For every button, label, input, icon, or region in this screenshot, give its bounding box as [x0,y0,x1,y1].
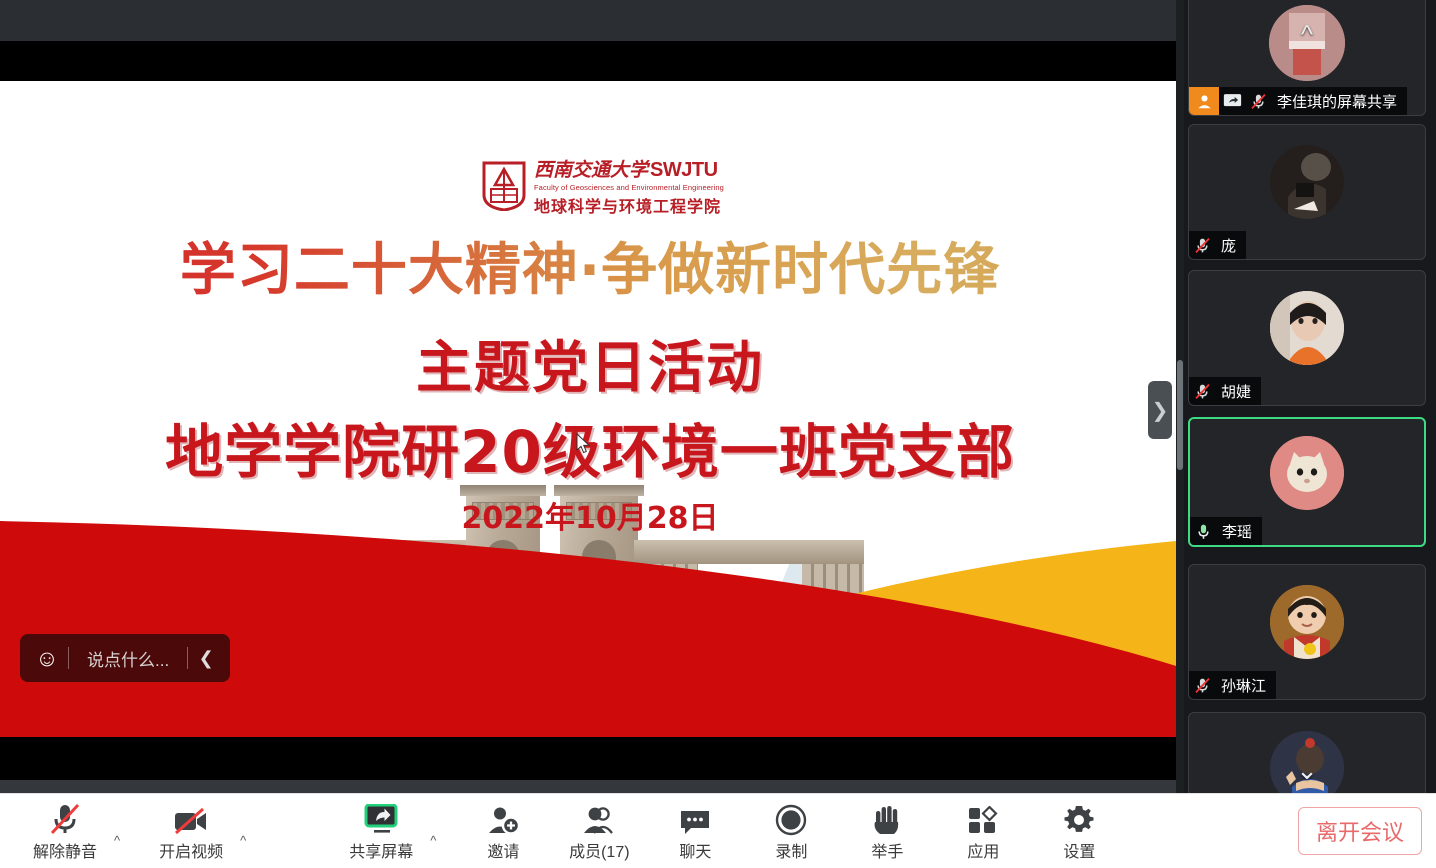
scrollbar-thumb[interactable] [1177,360,1183,470]
leave-meeting-label: 离开会议 [1316,815,1404,847]
screen-share-icon [1219,87,1245,115]
logo-faculty-cn: 地球科学与环境工程学院 [534,193,724,217]
smiley-icon[interactable]: ☺ [26,647,68,670]
letterbox-top [0,41,1180,81]
avatar [1270,145,1344,219]
microphone-muted-icon [1245,87,1271,115]
microphone-muted-icon [1189,231,1215,259]
toolbar-label: 成员(17) [569,838,629,862]
participant-tile[interactable]: 孙琳江 [1188,564,1426,700]
host-badge-icon [1189,87,1219,115]
participant-panel[interactable]: ^ [1184,0,1436,793]
toolbar-invite-button[interactable]: 邀请 [466,796,540,866]
toolbar-label: 解除静音 [33,838,97,862]
microphone-muted-icon [48,800,82,836]
microphone-muted-icon [1189,671,1215,699]
toolbar-label: 录制 [775,838,807,862]
toolbar-members-button[interactable]: 成员(17) [554,796,644,866]
chat-quick-entry[interactable]: ☺ 说点什么... ❮ [20,634,230,682]
avatar [1270,585,1344,659]
participant-namebar: 李佳琪的屏幕共享 [1189,87,1407,115]
chat-bubble-icon [679,800,711,836]
logo-university-cn: 西南交通大学 [534,155,648,182]
toolbar-label: 应用 [967,838,999,862]
participant-name: 李瑶 [1216,521,1252,542]
raised-hand-icon [872,800,902,836]
toolbar-share-screen-button[interactable]: 共享屏幕 [338,796,424,866]
toolbar-settings-button[interactable]: 设置 [1042,796,1116,866]
participant-namebar: 孙琳江 [1189,671,1276,699]
toolbar-label: 邀请 [487,838,519,862]
screen-top-strip [0,0,1180,41]
screen-bottom-strip [0,780,1180,793]
people-icon [582,800,616,836]
meeting-toolbar[interactable]: 解除静音 ^ 开启视频 ^ [0,793,1436,868]
presentation-slide: 交通大学 [0,81,1180,737]
leave-meeting-button[interactable]: 离开会议 [1298,807,1422,855]
gear-icon [1063,800,1095,836]
participant-name: 孙琳江 [1215,675,1266,696]
slide-date: 2022年10月28日 [0,493,1180,537]
participant-name: 庞 [1215,235,1236,256]
university-logo: 西南交通大学 SWJTU Faculty of Geosciences and … [482,155,724,217]
participant-panel-scrollbar[interactable] [1176,0,1184,793]
share-screen-icon [363,800,399,836]
participant-namebar: 庞 [1189,231,1246,259]
toolbar-label: 开启视频 [159,838,223,862]
record-circle-icon [775,800,807,836]
camera-off-icon [173,800,209,836]
logo-faculty-en: Faculty of Geosciences and Environmental… [534,183,724,192]
participant-name: 胡婕 [1215,381,1251,402]
logo-university-abbr: SWJTU [650,159,718,182]
participant-namebar: 李瑶 [1190,517,1262,545]
shield-icon [482,161,526,211]
participant-tile[interactable]: 胡婕 [1188,270,1426,406]
participant-tile[interactable]: 庞 [1188,124,1426,260]
slide-title-line2: 主题党日活动 [0,323,1180,404]
toolbar-label: 举手 [871,838,903,862]
toolbar-label: 共享屏幕 [349,838,413,862]
microphone-muted-icon [1189,377,1215,405]
video-options-chevron-up-icon[interactable]: ^ [234,833,252,848]
meeting-window: 交通大学 [0,0,1436,868]
mouse-cursor [576,433,592,455]
apps-grid-icon [968,800,998,836]
toolbar-label: 设置 [1063,838,1095,862]
logo-text-block: 西南交通大学 SWJTU Faculty of Geosciences and … [534,155,724,217]
chevron-up-icon: ^ [1301,21,1313,47]
avatar [1270,436,1344,510]
toolbar-record-button[interactable]: 录制 [754,796,828,866]
toolbar-mute-button[interactable]: 解除静音 [22,796,108,866]
slide-title-line1: 学习二十大精神·争做新时代先锋 [0,225,1180,306]
participant-tile-active-speaker[interactable]: 李瑶 [1188,417,1426,547]
mute-options-chevron-up-icon[interactable]: ^ [108,833,126,848]
toolbar-chat-button[interactable]: 聊天 [658,796,732,866]
share-options-chevron-up-icon[interactable]: ^ [424,833,442,848]
letterbox-bottom [0,737,1180,780]
toolbar-apps-button[interactable]: 应用 [946,796,1020,866]
collapse-panel-handle[interactable]: ❯ [1148,381,1172,439]
participant-namebar: 胡婕 [1189,377,1261,405]
chevron-left-icon[interactable]: ❮ [188,648,224,669]
toolbar-video-button[interactable]: 开启视频 [148,796,234,866]
add-person-icon [486,800,520,836]
shared-screen-area[interactable]: 交通大学 [0,0,1180,793]
avatar [1270,291,1344,365]
microphone-active-icon [1190,517,1216,545]
participant-name: 李佳琪的屏幕共享 [1271,91,1397,112]
chat-input-placeholder[interactable]: 说点什么... [69,646,187,671]
toolbar-label: 聊天 [679,838,711,862]
participant-tile[interactable]: ⌄ [1188,712,1426,793]
chevron-down-icon: ⌄ [1296,757,1318,783]
participant-tile[interactable]: ^ [1188,0,1426,116]
toolbar-raise-hand-button[interactable]: 举手 [850,796,924,866]
